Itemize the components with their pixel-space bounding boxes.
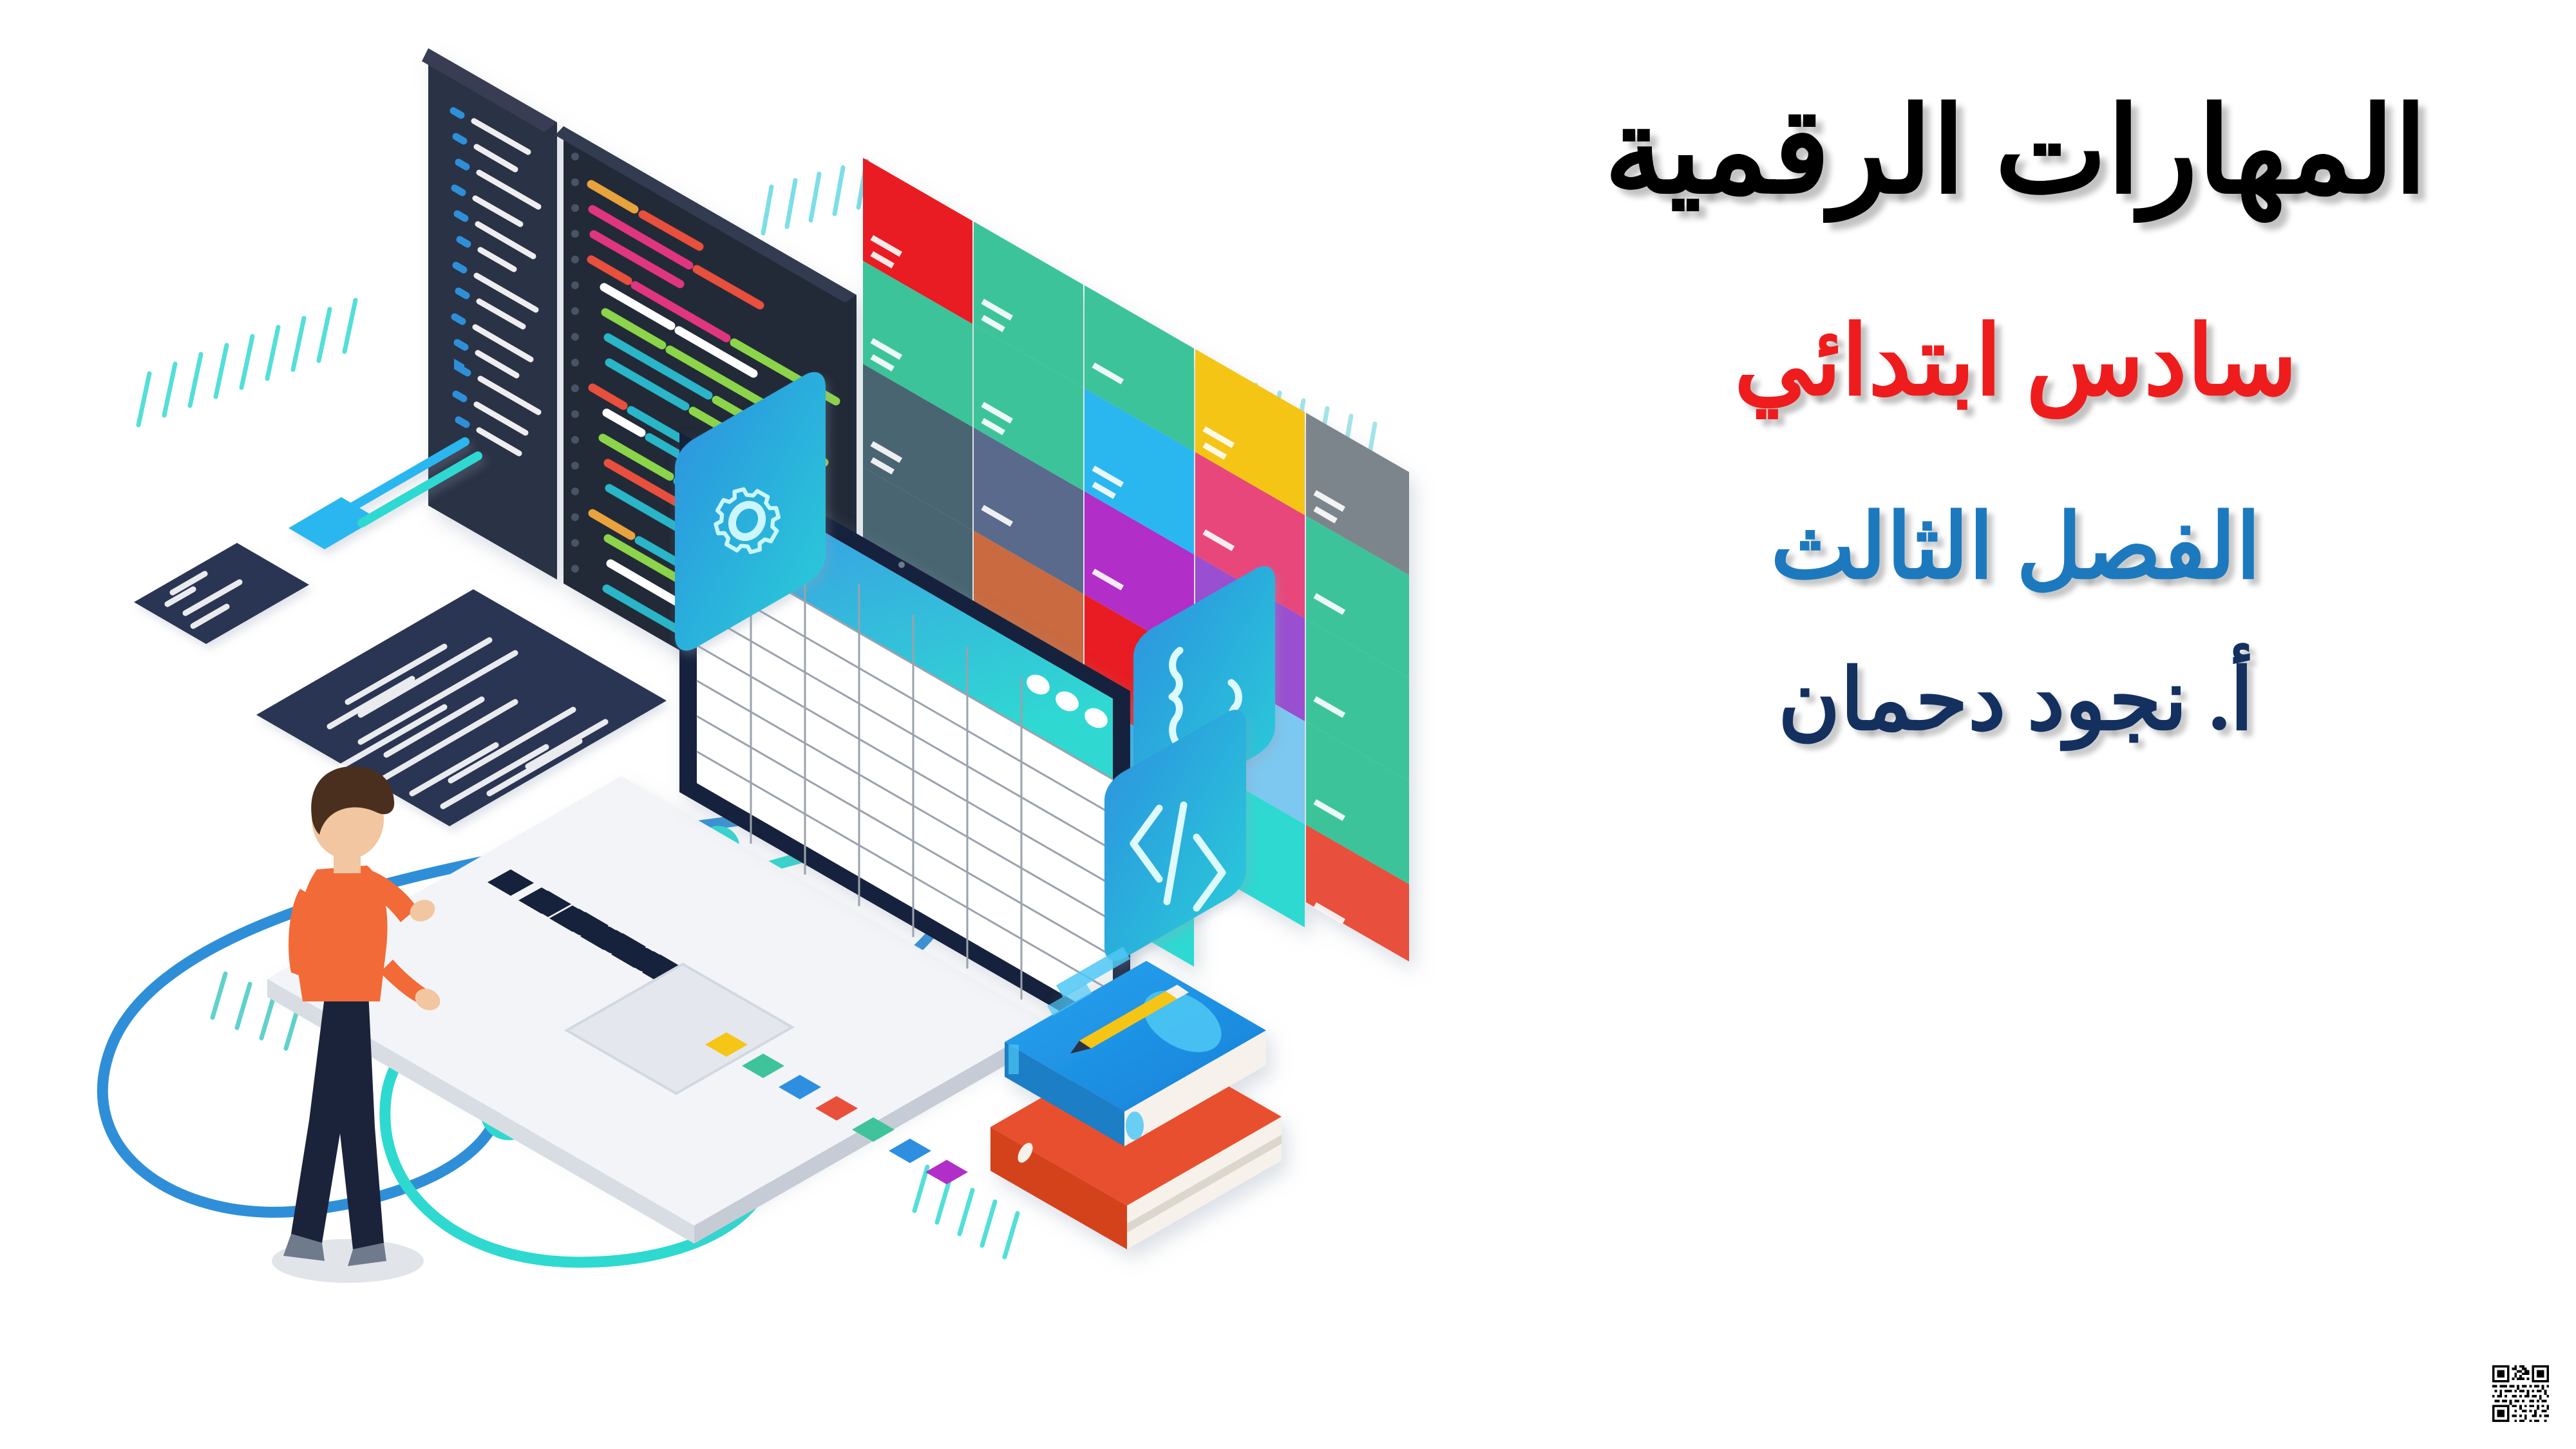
laptop-webcam <box>898 562 905 568</box>
grade-level-label: سادس ابتدائي <box>1455 312 2576 413</box>
page-title: المهارات الرقمية <box>1455 90 2576 215</box>
term-label: الفصل الثالث <box>1455 500 2576 595</box>
teacher-name-label: أ. نجود دحمان <box>1455 656 2576 746</box>
slide-canvas: المهارات الرقمية سادس ابتدائي الفصل الثا… <box>0 0 2576 1449</box>
title-text-block: المهارات الرقمية سادس ابتدائي الفصل الثا… <box>1455 0 2576 1449</box>
card-column-5 <box>1306 413 1409 961</box>
qr-code[interactable] <box>2490 1363 2552 1425</box>
isometric-coding-illustration <box>0 0 1455 1449</box>
